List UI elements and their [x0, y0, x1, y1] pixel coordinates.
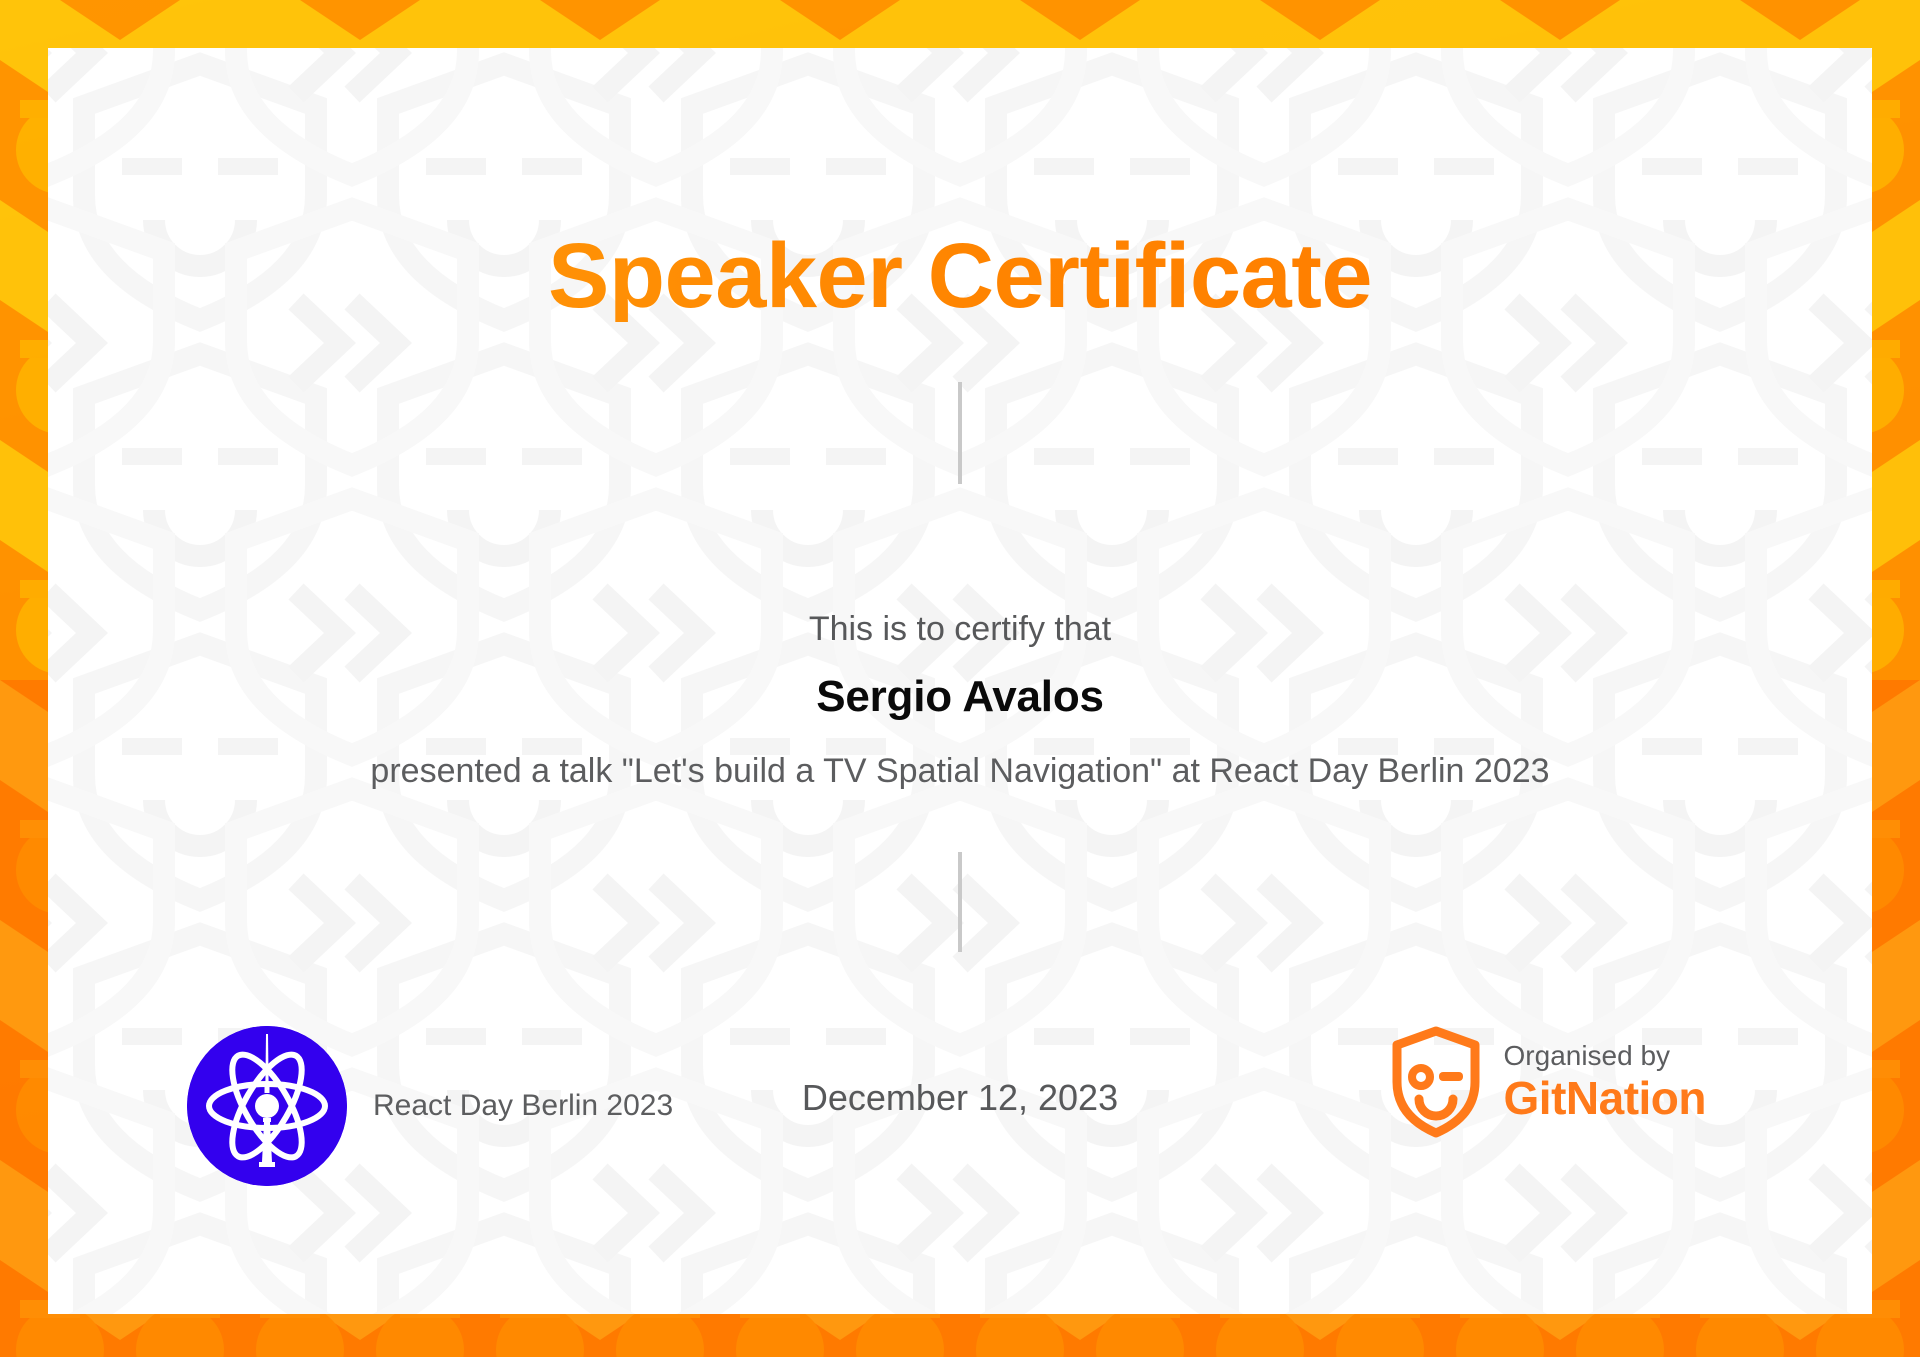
gitnation-wordmark: GitNation [1504, 1072, 1706, 1125]
page-title: Speaker Certificate [48, 230, 1872, 322]
divider-top [958, 382, 962, 484]
gitnation-shield-icon [1390, 1026, 1482, 1138]
recipient-name: Sergio Avalos [48, 672, 1872, 722]
certificate-footer: React Day Berlin 2023 December 12, 2023 … [48, 1014, 1872, 1314]
organised-by-label: Organised by [1504, 1039, 1706, 1073]
organiser-block: Organised by GitNation [1390, 1026, 1706, 1138]
certify-line: This is to certify that [48, 610, 1872, 649]
talk-description: presented a talk "Let's build a TV Spati… [48, 752, 1872, 791]
certificate-card: Speaker Certificate This is to certify t… [48, 48, 1872, 1314]
certificate-root: Speaker Certificate This is to certify t… [0, 0, 1920, 1357]
divider-bottom [958, 852, 962, 952]
organiser-text: Organised by GitNation [1504, 1039, 1706, 1125]
